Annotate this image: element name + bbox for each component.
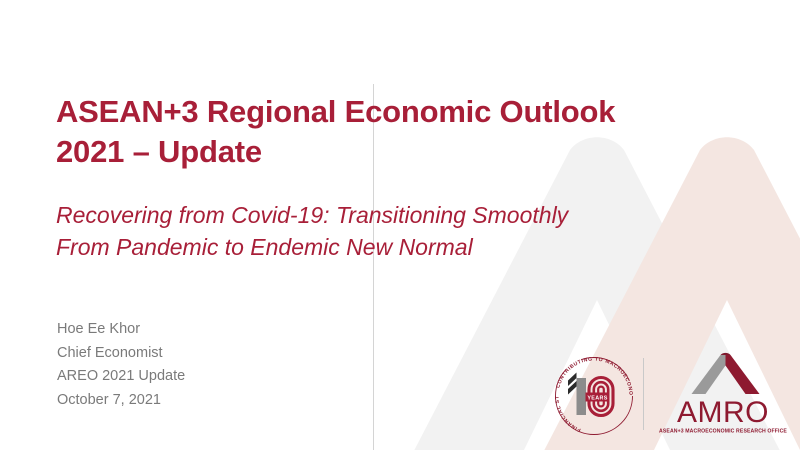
byline-author: Hoe Ee Khor [57,318,185,342]
logo-lockup: CONTRIBUTING TO MACROECONOMIC AND FINANC… [540,348,790,446]
amro-logo: AMRO ASEAN+3 MACROECONOMIC RESEARCH OFFI… [658,352,788,447]
page-title-line-2: 2021 – Update [56,134,262,169]
page-title-line-1: ASEAN+3 Regional Economic Outlook [56,94,615,129]
amro-tagline: ASEAN+3 MACROECONOMIC RESEARCH OFFICE [659,429,787,435]
seal-numeral-one [568,373,586,416]
page-subtitle-line-2: From Pandemic to Endemic New Normal [56,234,473,260]
anniversary-seal-logo: CONTRIBUTING TO MACROECONOMIC AND FINANC… [548,350,640,447]
byline-block: Hoe Ee Khor Chief Economist AREO 2021 Up… [57,318,185,412]
amro-wordmark: AMRO [677,396,769,429]
seal-ring-text-top: CONTRIBUTING TO MACROECONOMIC AND [548,350,634,396]
seal-years-badge: YEARS [586,393,610,402]
seal-years-label: YEARS [587,395,607,401]
logo-separator [643,358,644,430]
presentation-title-slide: ASEAN+3 Regional Economic Outlook 2021 –… [0,0,800,450]
amro-chevron-icon [692,353,760,394]
byline-date: October 7, 2021 [57,389,185,413]
byline-role: Chief Economist [57,342,185,366]
page-title: ASEAN+3 Regional Economic Outlook 2021 –… [56,92,696,171]
page-subtitle: Recovering from Covid-19: Transitioning … [56,200,686,263]
byline-publication: AREO 2021 Update [57,365,185,389]
page-subtitle-line-1: Recovering from Covid-19: Transitioning … [56,202,568,228]
